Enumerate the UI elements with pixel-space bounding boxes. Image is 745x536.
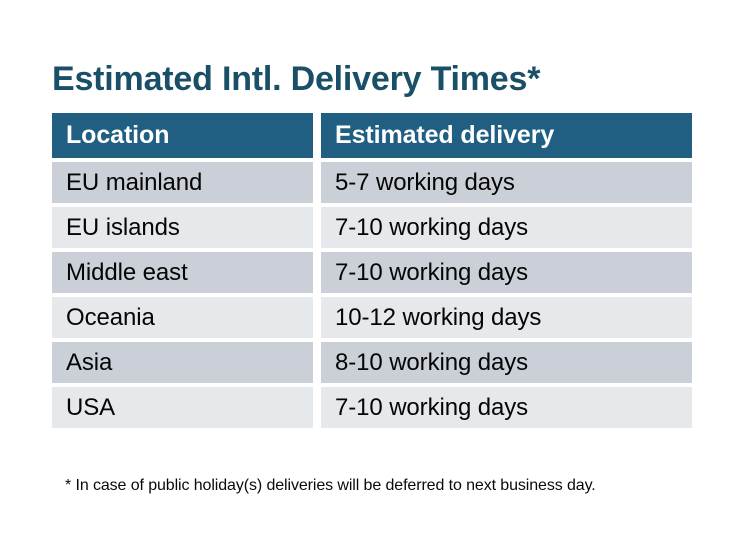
cell-delivery: 10-12 working days: [313, 293, 692, 338]
cell-location: Middle east: [52, 248, 313, 293]
cell-location: USA: [52, 383, 313, 428]
column-header-estimated-delivery: Estimated delivery: [313, 113, 692, 158]
cell-delivery: 7-10 working days: [313, 248, 692, 293]
table-footnote: * In case of public holiday(s) deliverie…: [65, 477, 596, 495]
cell-delivery: 5-7 working days: [313, 158, 692, 203]
cell-delivery: 7-10 working days: [313, 383, 692, 428]
table-row: USA 7-10 working days: [52, 383, 692, 428]
page-title: Estimated Intl. Delivery Times*: [52, 59, 540, 100]
cell-location: EU islands: [52, 203, 313, 248]
delivery-times-page: Estimated Intl. Delivery Times* Location…: [0, 0, 745, 536]
cell-location: Asia: [52, 338, 313, 383]
cell-delivery: 7-10 working days: [313, 203, 692, 248]
table-row: Asia 8-10 working days: [52, 338, 692, 383]
table-row: Middle east 7-10 working days: [52, 248, 692, 293]
cell-delivery: 8-10 working days: [313, 338, 692, 383]
table-row: EU mainland 5-7 working days: [52, 158, 692, 203]
cell-location: EU mainland: [52, 158, 313, 203]
table-row: EU islands 7-10 working days: [52, 203, 692, 248]
table-body: EU mainland 5-7 working days EU islands …: [52, 158, 692, 428]
table-row: Oceania 10-12 working days: [52, 293, 692, 338]
table-header-row: Location Estimated delivery: [52, 113, 692, 158]
table-header: Location Estimated delivery: [52, 113, 692, 158]
estimated-delivery-times-table: Location Estimated delivery EU mainland …: [52, 113, 692, 428]
cell-location: Oceania: [52, 293, 313, 338]
column-header-location: Location: [52, 113, 313, 158]
